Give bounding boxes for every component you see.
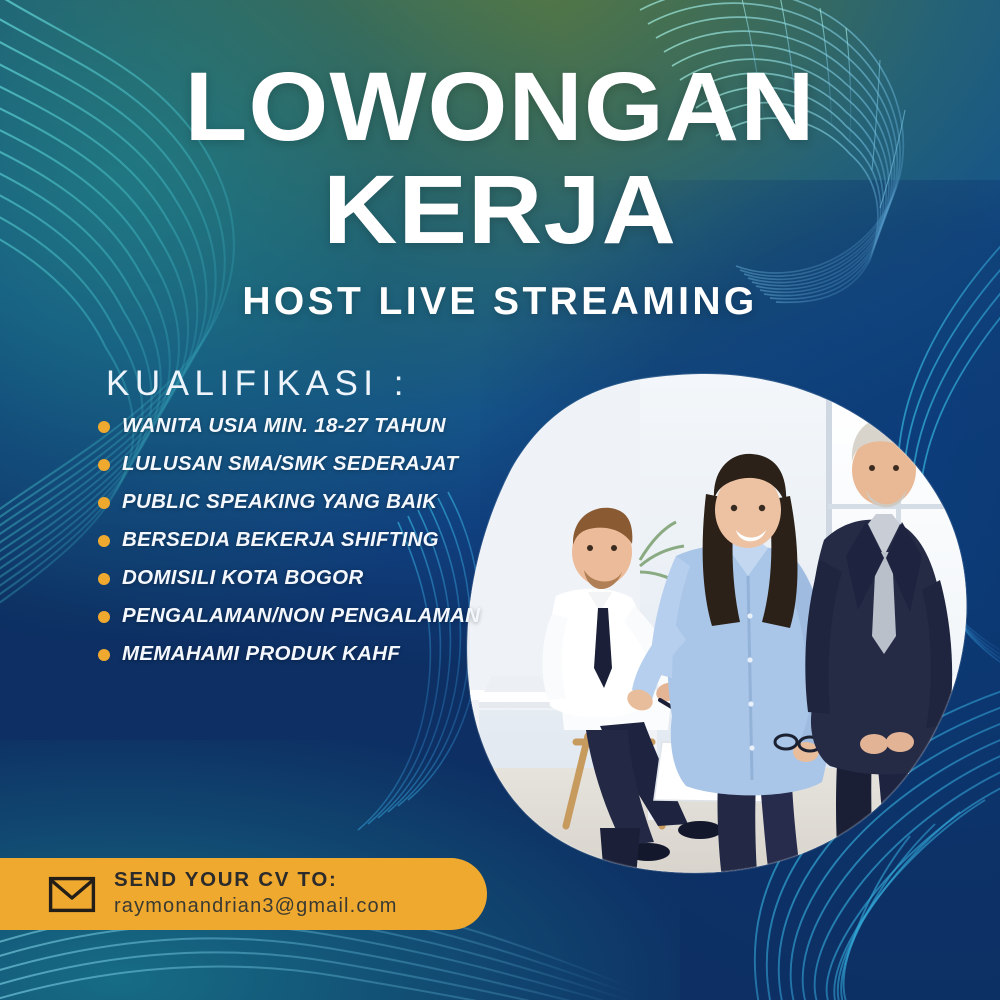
title-line-2: KERJA: [0, 165, 1000, 254]
qualifications-heading: KUALIFIKASI :: [106, 364, 492, 404]
envelope-icon: [48, 876, 96, 913]
list-item: DOMISILI KOTA BOGOR: [92, 564, 492, 591]
list-item: WANITA USIA MIN. 18-27 TAHUN: [92, 412, 492, 439]
cv-text-block: SEND YOUR CV TO: raymonandrian3@gmail.co…: [114, 868, 398, 920]
qualifications-section: KUALIFIKASI : WANITA USIA MIN. 18-27 TAH…: [92, 364, 492, 678]
list-item: LULUSAN SMA/SMK SEDERAJAT: [92, 450, 492, 477]
title-line-1: LOWONGAN: [0, 62, 1000, 151]
poster-header: LOWONGAN KERJA HOST LIVE STREAMING: [0, 62, 1000, 324]
office-photo: [460, 360, 1000, 946]
send-cv-banner[interactable]: SEND YOUR CV TO: raymonandrian3@gmail.co…: [0, 858, 487, 930]
send-cv-label: SEND YOUR CV TO:: [114, 868, 398, 892]
list-item: PENGALAMAN/NON PENGALAMAN: [92, 602, 492, 629]
list-item: BERSEDIA BEKERJA SHIFTING: [92, 526, 492, 553]
job-vacancy-poster: LOWONGAN KERJA HOST LIVE STREAMING KUALI…: [0, 0, 1000, 1000]
list-item: PUBLIC SPEAKING YANG BAIK: [92, 488, 492, 515]
cv-email-address[interactable]: raymonandrian3@gmail.com: [114, 893, 398, 920]
job-position-subtitle: HOST LIVE STREAMING: [0, 280, 1000, 324]
list-item: MEMAHAMI PRODUK KAHF: [92, 640, 492, 667]
qualifications-list: WANITA USIA MIN. 18-27 TAHUN LULUSAN SMA…: [92, 412, 492, 667]
